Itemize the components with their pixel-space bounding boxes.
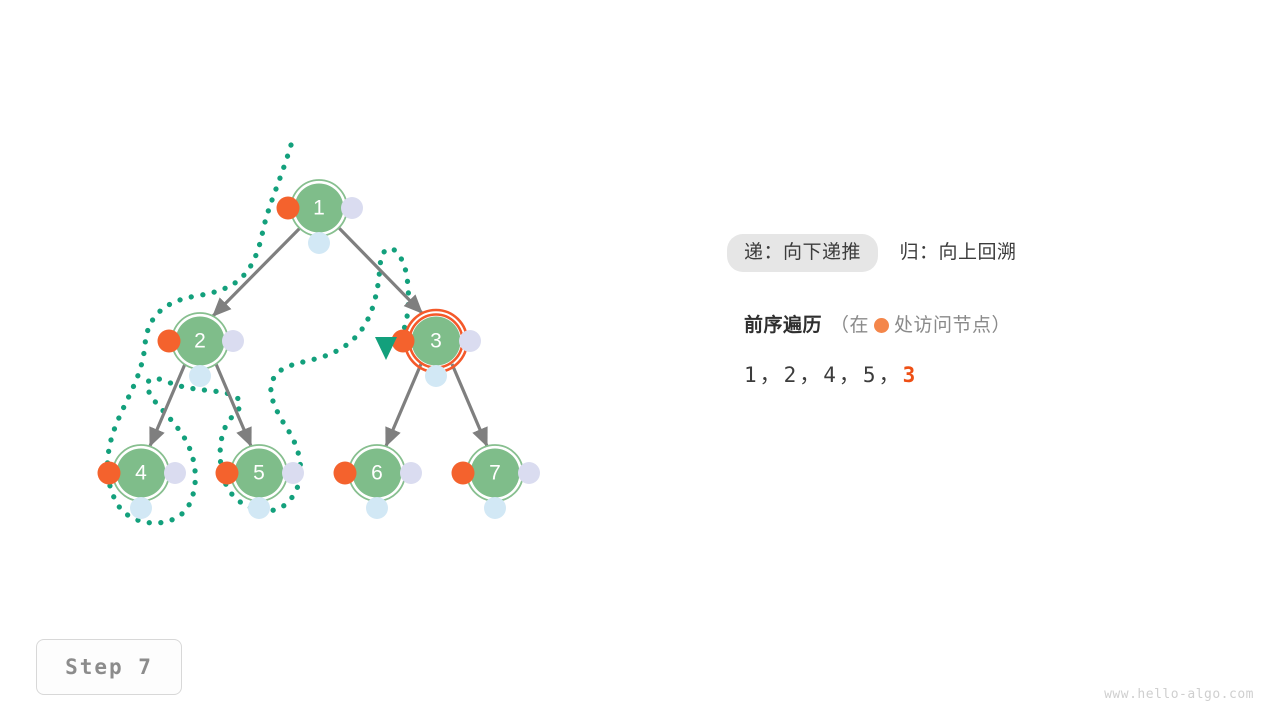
- traversal-sequence-past: 1，2，4，5，: [744, 363, 903, 387]
- traversal-title-prefix: （在: [830, 315, 869, 336]
- node-bottom-dot: [248, 497, 270, 519]
- edge-n1-n3: [339, 228, 422, 313]
- node-visit-dot: [158, 330, 181, 353]
- traversal-title: 前序遍历（在处访问节点）: [744, 310, 1247, 337]
- traversal-title-strong: 前序遍历: [744, 315, 822, 336]
- tree-node-7[interactable]: 7: [452, 445, 541, 519]
- edge-n2-n4: [150, 364, 185, 446]
- node-right-dot: [164, 462, 186, 484]
- node-visit-dot: [216, 462, 239, 485]
- binary-tree-diagram: 1 2 3 4: [0, 0, 700, 600]
- node-value: 7: [489, 462, 501, 485]
- edge-n2-n5: [216, 364, 251, 446]
- tree-node-4[interactable]: 4: [98, 445, 187, 519]
- traversal-sequence-current: 3: [903, 363, 919, 387]
- edge-n3-n6: [386, 364, 421, 446]
- step-badge-label: Step 7: [65, 655, 153, 679]
- node-bottom-dot: [308, 232, 330, 254]
- tree-node-3[interactable]: 3: [375, 310, 481, 387]
- node-right-dot: [222, 330, 244, 352]
- traversal-title-suffix: 处访问节点）: [894, 315, 1011, 336]
- orange-dot-icon: [874, 318, 889, 333]
- current-node-pointer-icon: [375, 337, 397, 360]
- node-bottom-dot: [130, 497, 152, 519]
- diagram-canvas: 1 2 3 4: [0, 0, 1280, 720]
- step-badge: Step 7: [36, 639, 182, 695]
- tree-node-5[interactable]: 5: [216, 445, 305, 519]
- node-right-dot: [341, 197, 363, 219]
- node-bottom-dot: [189, 365, 211, 387]
- node-right-dot: [518, 462, 540, 484]
- watermark: www.hello-algo.com: [1104, 687, 1254, 702]
- node-value: 3: [430, 330, 442, 353]
- node-right-dot: [400, 462, 422, 484]
- tree-node-1[interactable]: 1: [277, 180, 364, 254]
- traversal-sequence: 1，2，4，5，3: [744, 359, 1247, 389]
- node-value: 1: [313, 197, 325, 220]
- node-bottom-dot: [366, 497, 388, 519]
- node-value: 2: [194, 330, 206, 353]
- node-right-dot: [282, 462, 304, 484]
- legend-descend: 递：向下递推: [727, 234, 878, 272]
- node-visit-dot: [98, 462, 121, 485]
- tree-node-6[interactable]: 6: [334, 445, 423, 519]
- traversal-block: 前序遍历（在处访问节点） 1，2，4，5，3: [727, 310, 1247, 389]
- node-visit-dot: [452, 462, 475, 485]
- legend-ascend: 归：向上回溯: [882, 234, 1033, 272]
- info-panel: 递：向下递推 归：向上回溯 前序遍历（在处访问节点） 1，2，4，5，3: [727, 232, 1247, 389]
- node-value: 6: [371, 462, 383, 485]
- node-visit-dot: [277, 197, 300, 220]
- node-value: 5: [253, 462, 265, 485]
- tree-node-2[interactable]: 2: [158, 313, 245, 387]
- node-right-dot: [459, 330, 481, 352]
- edge-n3-n7: [452, 364, 487, 446]
- node-visit-dot: [334, 462, 357, 485]
- node-bottom-dot: [425, 365, 447, 387]
- edge-n1-n2: [213, 228, 300, 316]
- node-bottom-dot: [484, 497, 506, 519]
- node-value: 4: [135, 462, 147, 485]
